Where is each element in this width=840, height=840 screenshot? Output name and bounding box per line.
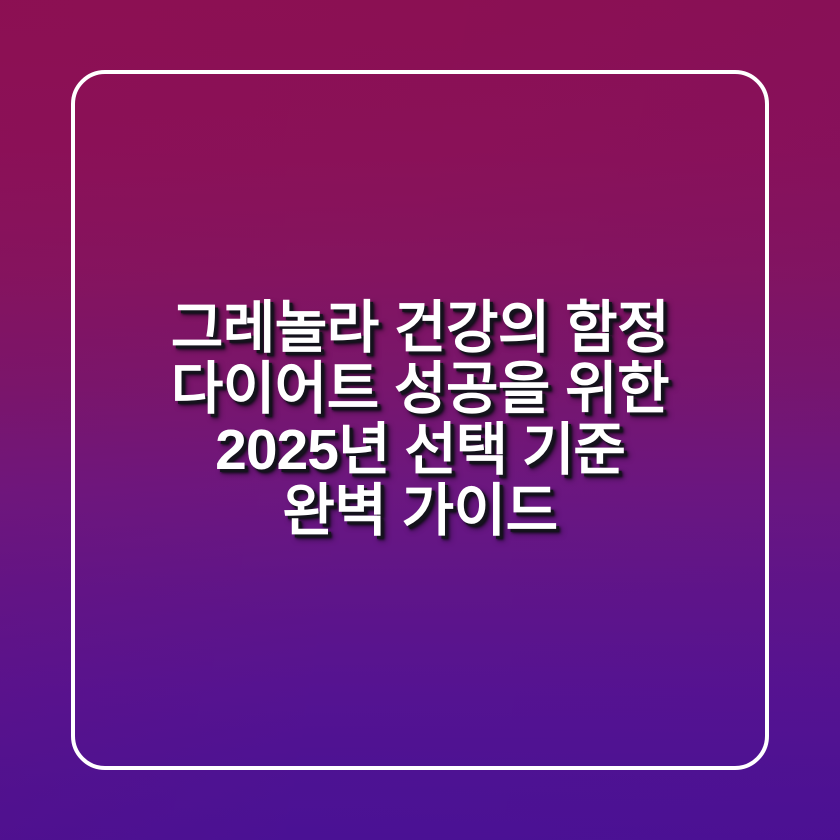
title-line-4: 완벽 가이드: [86, 481, 754, 542]
page-title: 그레놀라 건강의 함정 다이어트 성공을 위한 2025년 선택 기준 완벽 가…: [0, 0, 840, 840]
thumbnail-card: 그레놀라 건강의 함정 다이어트 성공을 위한 2025년 선택 기준 완벽 가…: [0, 0, 840, 840]
title-line-2: 다이어트 성공을 위한: [86, 359, 754, 420]
title-line-1: 그레놀라 건강의 함정: [86, 298, 754, 359]
title-line-3: 2025년 선택 기준: [86, 420, 754, 481]
